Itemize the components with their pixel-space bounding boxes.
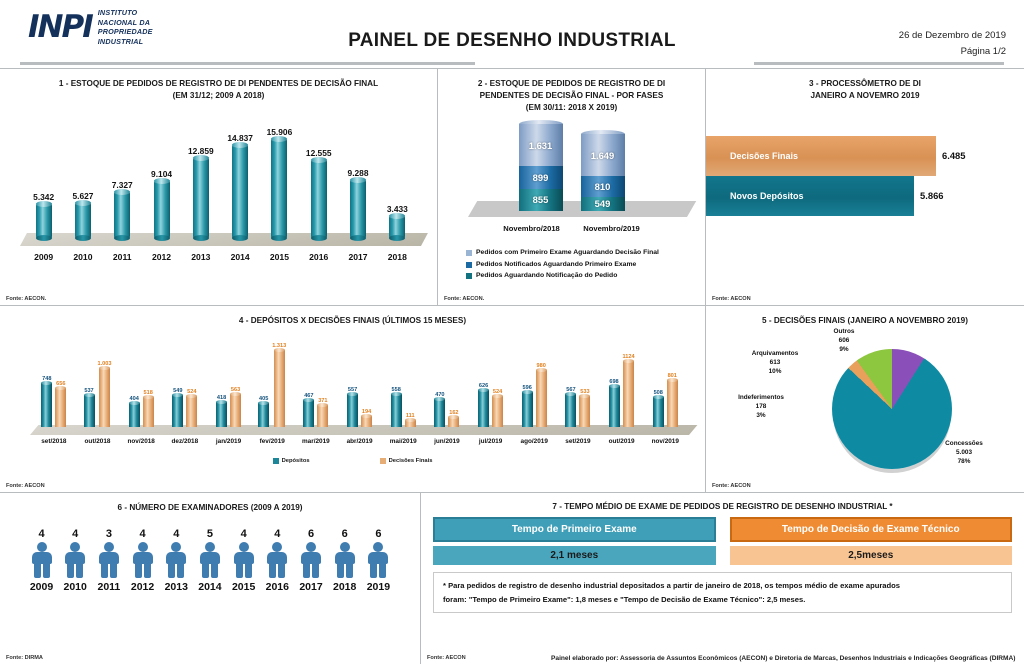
chart-2-stack: 1.631899855 xyxy=(519,124,563,210)
panel-2-title: 2 - ESTOQUE DE PEDIDOS DE REGISTRO DE DI… xyxy=(438,69,705,114)
chart-1-bar xyxy=(389,216,405,237)
chart-4-x-tick: mai/2019 xyxy=(381,438,425,445)
chart-4-x-tick: jun/2019 xyxy=(425,438,469,445)
chart-4-x-tick: nov/2019 xyxy=(643,438,687,445)
chart-4-bars: 7486565371.0034045185495244185634051.313… xyxy=(32,327,687,427)
person-icon xyxy=(131,542,155,578)
chart-1-bars: 5.3425.6277.3279.10412.85914.83715.90612… xyxy=(24,106,417,238)
panel-2-source: Fonte: AECON. xyxy=(444,296,484,302)
chart-3-row: Decisões Finais6.485 xyxy=(706,136,1024,176)
chart-4-group: 467371 xyxy=(294,393,338,427)
panel-3-subtitle: JANEIRO A NOVEMRO 2019 xyxy=(706,90,1024,102)
chart-4-column: 1.313 xyxy=(272,343,286,427)
chart-4-x-tick: fev/2019 xyxy=(250,438,294,445)
chart-1-x-tick: 2017 xyxy=(338,252,377,262)
chart-4-x-tick: ago/2019 xyxy=(512,438,556,445)
chart-1-column: 5.342 xyxy=(24,192,63,237)
panel-2-estoque-por-fases: 2 - ESTOQUE DE PEDIDOS DE REGISTRO DE DI… xyxy=(437,69,705,305)
chart-1-column: 12.555 xyxy=(299,148,338,238)
chart-6-count: 4 xyxy=(140,528,146,540)
chart-4-column: 524 xyxy=(492,389,503,427)
chart-4-column: 748 xyxy=(41,376,52,427)
page-header: INPI INSTITUTO NACIONAL DA PROPRIEDADE I… xyxy=(0,0,1024,68)
chart-4-column: 656 xyxy=(55,381,66,426)
chart-4-bar xyxy=(258,403,269,427)
pie-label-outros: Outros6069% xyxy=(814,327,874,355)
chart-6-item: 42012 xyxy=(127,528,158,593)
chart-1-column: 9.104 xyxy=(142,169,181,238)
panel-6-source: Fonte: DIRMA xyxy=(6,655,43,661)
chart-4-group: 626524 xyxy=(469,383,513,427)
chart-4-x-tick: dez/2018 xyxy=(163,438,207,445)
chart-6-year: 2011 xyxy=(97,581,120,593)
chart-4-column: 518 xyxy=(143,390,154,427)
chart-4-bar xyxy=(448,417,459,426)
chart-4-column: 194 xyxy=(361,409,372,427)
chart-1-column: 9.288 xyxy=(338,168,377,238)
chart-6-item: 52014 xyxy=(194,528,225,593)
chart-4-bar xyxy=(129,403,140,427)
header-meta: 26 de Dezembro de 2019 Página 1/2 xyxy=(899,28,1006,60)
chart-6-year: 2016 xyxy=(266,581,289,593)
legend-swatch xyxy=(466,250,472,256)
person-icon xyxy=(265,542,289,578)
chart-1-bar xyxy=(350,180,366,238)
chart-4-group: 549524 xyxy=(163,388,207,427)
legend-label: Pedidos com Primeiro Exame Aguardando De… xyxy=(476,247,659,259)
pie-label-name: Concessões xyxy=(924,439,1004,448)
chart-4-bar xyxy=(55,388,66,426)
chart-3-plot: Decisões Finais6.485Novos Depósitos5.866 xyxy=(706,136,1024,236)
chart-2-legend-item: Pedidos com Primeiro Exame Aguardando De… xyxy=(466,247,705,259)
chart-4-column: 549 xyxy=(172,388,183,427)
person-icon xyxy=(164,542,188,578)
chart-3-bar: Novos Depósitos xyxy=(706,176,914,216)
tempo-decisao-tecnico-value: 2,5meses xyxy=(730,546,1013,565)
chart-1-bar xyxy=(36,204,52,237)
chart-6-count: 4 xyxy=(38,528,44,540)
chart-3-row: Novos Depósitos5.866 xyxy=(706,176,1024,216)
dashboard-page: INPI INSTITUTO NACIONAL DA PROPRIEDADE I… xyxy=(0,0,1024,666)
pie-label-name: Outros xyxy=(814,327,874,336)
chart-4-column: 558 xyxy=(391,387,402,427)
chart-4-column: 533 xyxy=(579,389,590,427)
chart-4-column: 698 xyxy=(609,379,620,427)
person-icon xyxy=(366,542,390,578)
chart-4-column: 1124 xyxy=(623,354,635,427)
panel-7-footnote-line1: * Para pedidos de registro de desenho in… xyxy=(443,579,1002,593)
chart-4-x-tick: jan/2019 xyxy=(207,438,251,445)
chart-4-group: 558111 xyxy=(381,387,425,427)
panel-7-title: 7 - TEMPO MÉDIO DE EXAME DE PEDIDOS DE R… xyxy=(433,497,1012,513)
panel-7-tempo-medio: 7 - TEMPO MÉDIO DE EXAME DE PEDIDOS DE R… xyxy=(420,493,1024,664)
chart-4-x-tick: out/2018 xyxy=(76,438,120,445)
chart-4-column: 524 xyxy=(186,389,197,427)
logo-line-1: INSTITUTO xyxy=(98,8,153,18)
chart-4-bar xyxy=(216,402,227,426)
chart-6-year: 2017 xyxy=(299,581,322,593)
chart-1-x-tick: 2013 xyxy=(181,252,220,262)
chart-4-bar xyxy=(405,420,416,427)
panel-3-source: Fonte: AECON xyxy=(712,296,751,302)
chart-6-count: 6 xyxy=(308,528,314,540)
chart-4-column: 371 xyxy=(317,398,328,427)
chart-6-item: 32011 xyxy=(93,528,124,593)
pie-label-value: 613 xyxy=(734,358,816,367)
panel-7-columns: Tempo de Primeiro Exame 2,1 meses Tempo … xyxy=(433,517,1012,565)
panel-1-source: Fonte: AECON. xyxy=(6,296,46,302)
chart-1-x-tick: 2009 xyxy=(24,252,63,262)
chart-4-column: 508 xyxy=(653,390,664,427)
tempo-primeiro-exame-value: 2,1 meses xyxy=(433,546,716,565)
pie-label-name: Arquivamentos xyxy=(734,349,816,358)
chart-2-segment: 549 xyxy=(581,197,625,211)
chart-1-column: 5.627 xyxy=(63,191,102,238)
chart-4-x-axis: set/2018out/2018nov/2018dez/2018jan/2019… xyxy=(32,438,687,445)
chart-1-x-tick: 2016 xyxy=(299,252,338,262)
panel-5-decisoes-finais-pie: 5 - DECISÕES FINAIS (JANEIRO A NOVEMBRO … xyxy=(705,306,1024,492)
person-icon xyxy=(333,542,357,578)
chart-4-bar xyxy=(579,396,590,427)
chart-1-bar xyxy=(271,139,287,238)
chart-4-x-tick: nov/2018 xyxy=(119,438,163,445)
chart-3-bar: Decisões Finais xyxy=(706,136,936,176)
chart-4-bar xyxy=(565,394,576,427)
chart-5-plot: Outros6069% Arquivamentos61310% Indeferi… xyxy=(706,327,1024,477)
chart-4-x-tick: jul/2019 xyxy=(469,438,513,445)
panel-3-title: 3 - PROCESSÔMETRO DE DI JANEIRO A NOVEMR… xyxy=(706,69,1024,102)
chart-1-bar xyxy=(193,158,209,238)
chart-4-bar xyxy=(492,396,503,427)
panel-2-title-line2: PENDENTES DE DECISÃO FINAL - POR FASES xyxy=(438,90,705,102)
chart-2-segment: 899 xyxy=(519,166,563,189)
report-date: 26 de Dezembro de 2019 xyxy=(899,28,1006,44)
person-icon xyxy=(232,542,256,578)
panel-6-title: 6 - NÚMERO DE EXAMINADORES (2009 A 2019) xyxy=(0,493,420,514)
logo-line-2: NACIONAL DA xyxy=(98,18,153,28)
chart-4-bar xyxy=(143,397,154,427)
chart-4-bar xyxy=(391,394,402,427)
chart-6-year: 2019 xyxy=(367,581,390,593)
pie-label-percent: 10% xyxy=(734,367,816,376)
panel-1-title-line1: 1 - ESTOQUE DE PEDIDOS DE REGISTRO DE DI… xyxy=(0,78,437,90)
pie-label-indeferimentos: Indeferimentos1783% xyxy=(718,393,804,421)
chart-4-bar xyxy=(41,383,52,427)
pie-label-percent: 9% xyxy=(814,345,874,354)
chart-6-item: 42015 xyxy=(228,528,259,593)
chart-4-group: 596980 xyxy=(512,363,556,427)
panel-7-footnote: * Para pedidos de registro de desenho in… xyxy=(433,572,1012,613)
chart-4-bar xyxy=(230,394,241,427)
person-icon xyxy=(30,542,54,578)
legend-label: Depósitos xyxy=(282,458,310,464)
pie-label-value: 606 xyxy=(814,336,874,345)
chart-2-plot: 1.6318998551.649810549 Novembro/2018Nove… xyxy=(438,120,705,245)
chart-4-bar xyxy=(186,396,197,427)
dashboard-credit: Painel elaborado por: Assessoria de Assu… xyxy=(551,655,1016,662)
chart-4-column: 470 xyxy=(434,392,445,427)
chart-4-bar xyxy=(347,394,358,427)
chart-6-item: 62017 xyxy=(296,528,327,593)
chart-1-x-tick: 2018 xyxy=(378,252,417,262)
chart-4-plot: 7486565371.0034045185495244185634051.313… xyxy=(10,329,695,457)
chart-6-count: 5 xyxy=(207,528,213,540)
chart-4-bar xyxy=(172,395,183,427)
chart-1-bar xyxy=(311,160,327,238)
page-title: PAINEL DE DESENHO INDUSTRIAL xyxy=(0,30,1024,52)
chart-1-bar xyxy=(154,181,170,238)
chart-4-x-tick: out/2019 xyxy=(600,438,644,445)
panel-1-title: 1 - ESTOQUE DE PEDIDOS DE REGISTRO DE DI… xyxy=(0,69,437,102)
chart-4-column: 980 xyxy=(536,363,547,427)
chart-1-column: 12.859 xyxy=(181,146,220,238)
chart-2-stacks: 1.6318998551.649810549 xyxy=(438,124,705,210)
chart-4-column: 1.003 xyxy=(98,361,112,427)
chart-6-year: 2018 xyxy=(333,581,356,593)
chart-2-x-tick: Novembro/2018 xyxy=(501,224,563,233)
chart-4-column: 111 xyxy=(405,413,416,427)
chart-2-segment: 855 xyxy=(519,189,563,211)
chart-1-x-tick: 2011 xyxy=(103,252,142,262)
chart-6-year: 2009 xyxy=(30,581,53,593)
legend-swatch xyxy=(466,262,472,268)
chart-6-year: 2015 xyxy=(232,581,255,593)
chart-4-column: 162 xyxy=(448,410,459,426)
chart-1-x-tick: 2010 xyxy=(63,252,102,262)
chart-6-count: 3 xyxy=(106,528,112,540)
chart-4-column: 467 xyxy=(303,393,314,427)
chart-6-count: 4 xyxy=(72,528,78,540)
chart-6-count: 4 xyxy=(241,528,247,540)
chart-6-year: 2013 xyxy=(165,581,188,593)
header-rule-left xyxy=(20,62,475,65)
chart-6-item: 42010 xyxy=(60,528,91,593)
pie-label-percent: 3% xyxy=(718,411,804,420)
legend-label: Decisões Finais xyxy=(389,458,433,464)
chart-4-group: 470162 xyxy=(425,392,469,427)
pie-label-percent: 78% xyxy=(924,457,1004,466)
chart-4-group: 5371.003 xyxy=(76,361,120,427)
chart-6-count: 6 xyxy=(342,528,348,540)
chart-6-year: 2012 xyxy=(131,581,154,593)
chart-4-bar xyxy=(536,370,547,427)
chart-6-count: 6 xyxy=(375,528,381,540)
chart-1-bar xyxy=(114,192,130,238)
chart-2-stack: 1.649810549 xyxy=(581,134,625,211)
pie-label-value: 5.003 xyxy=(924,448,1004,457)
chart-1-plot: 5.3425.6277.3279.10412.85914.83715.90612… xyxy=(14,108,423,268)
chart-6-count: 4 xyxy=(274,528,280,540)
chart-4-x-tick: set/2018 xyxy=(32,438,76,445)
chart-4-column: 537 xyxy=(84,388,95,426)
chart-1-bar xyxy=(232,145,248,238)
chart-4-column: 563 xyxy=(230,387,241,427)
chart-4-column: 596 xyxy=(522,385,533,427)
chart-4-column: 405 xyxy=(258,396,269,427)
person-icon xyxy=(63,542,87,578)
chart-4-bar xyxy=(274,350,285,427)
person-icon xyxy=(299,542,323,578)
chart-4-group: 508801 xyxy=(643,373,687,427)
dashboard-row-1: 1 - ESTOQUE DE PEDIDOS DE REGISTRO DE DI… xyxy=(0,68,1024,305)
dashboard-row-2: 4 - DEPÓSITOS X DECISÕES FINAIS (ÚLTIMOS… xyxy=(0,305,1024,492)
chart-4-x-tick: mar/2019 xyxy=(294,438,338,445)
chart-6-year: 2010 xyxy=(64,581,87,593)
chart-3-value-label: 6.485 xyxy=(942,150,965,161)
chart-4-bar xyxy=(653,397,664,427)
chart-4-legend-item: Decisões Finais xyxy=(380,458,433,464)
chart-1-column: 3.433 xyxy=(378,204,417,237)
chart-1-bar xyxy=(75,203,91,238)
chart-2-x-axis: Novembro/2018Novembro/2019 xyxy=(438,224,705,233)
panel-3-title-line1: 3 - PROCESSÔMETRO DE DI xyxy=(706,78,1024,90)
chart-6-count: 4 xyxy=(173,528,179,540)
chart-4-group: 418563 xyxy=(207,387,251,427)
panel-7-body: 7 - TEMPO MÉDIO DE EXAME DE PEDIDOS DE R… xyxy=(421,493,1024,613)
chart-4-bar xyxy=(99,368,110,427)
panel-1-estoque-pendentes: 1 - ESTOQUE DE PEDIDOS DE REGISTRO DE DI… xyxy=(0,69,437,305)
panel-5-title: 5 - DECISÕES FINAIS (JANEIRO A NOVEMBRO … xyxy=(706,306,1024,327)
chart-4-bar xyxy=(317,405,328,427)
chart-2-x-tick: Novembro/2019 xyxy=(581,224,643,233)
chart-4-x-tick: abr/2019 xyxy=(338,438,382,445)
tempo-primeiro-exame-header: Tempo de Primeiro Exame xyxy=(433,517,716,542)
chart-6-pictogram-row: 4200942010320114201242013520144201542016… xyxy=(26,528,394,593)
legend-swatch xyxy=(466,273,472,279)
tempo-decisao-tecnico-header: Tempo de Decisão de Exame Técnico xyxy=(730,517,1013,542)
chart-4-legend-item: Depósitos xyxy=(273,458,310,464)
page-number: Página 1/2 xyxy=(899,44,1006,60)
chart-2-segment: 1.649 xyxy=(581,134,625,176)
chart-4-group: 567533 xyxy=(556,387,600,427)
chart-4-bar xyxy=(667,380,678,427)
legend-label: Pedidos Notificados Aguardando Primeiro … xyxy=(476,259,636,271)
chart-4-bar xyxy=(434,399,445,427)
legend-swatch xyxy=(380,458,386,464)
panel-7-source: Fonte: AECON xyxy=(427,655,466,661)
panel-4-title: 4 - DEPÓSITOS X DECISÕES FINAIS (ÚLTIMOS… xyxy=(0,306,705,327)
panel-2-subtitle: (EM 30/11: 2018 X 2019) xyxy=(438,102,705,114)
panel-7-col-primeiro-exame: Tempo de Primeiro Exame 2,1 meses xyxy=(433,517,716,565)
header-rule-right xyxy=(754,62,1004,65)
pie-label-arquivamentos: Arquivamentos61310% xyxy=(734,349,816,377)
chart-4-column: 404 xyxy=(129,396,140,427)
panel-4-depositos-x-decisoes: 4 - DEPÓSITOS X DECISÕES FINAIS (ÚLTIMOS… xyxy=(0,306,705,492)
chart-4-group: 404518 xyxy=(119,390,163,427)
panel-5-source: Fonte: AECON xyxy=(712,483,751,489)
chart-4-group: 748656 xyxy=(32,376,76,427)
panel-7-col-decisao-tecnico: Tempo de Decisão de Exame Técnico 2,5mes… xyxy=(730,517,1013,565)
person-icon xyxy=(97,542,121,578)
chart-4-column: 567 xyxy=(565,387,576,427)
panel-2-title-line1: 2 - ESTOQUE DE PEDIDOS DE REGISTRO DE DI xyxy=(438,78,705,90)
chart-6-item: 42009 xyxy=(26,528,57,593)
chart-4-group: 4051.313 xyxy=(250,343,294,427)
chart-2-legend-item: Pedidos Notificados Aguardando Primeiro … xyxy=(466,259,705,271)
chart-4-bar xyxy=(361,416,372,427)
chart-6-year: 2014 xyxy=(198,581,221,593)
legend-swatch xyxy=(273,458,279,464)
chart-4-bar xyxy=(522,392,533,427)
chart-4-column: 801 xyxy=(667,373,678,427)
chart-4-bar xyxy=(609,386,620,427)
chart-4-column: 418 xyxy=(216,395,227,426)
dashboard-row-3: 6 - NÚMERO DE EXAMINADORES (2009 A 2019)… xyxy=(0,492,1024,664)
chart-2-legend-item: Pedidos Aguardando Notificação do Pedido xyxy=(466,270,705,282)
chart-4-bar xyxy=(84,395,95,426)
legend-label: Pedidos Aguardando Notificação do Pedido xyxy=(476,270,617,282)
chart-4-bar xyxy=(478,390,489,427)
chart-4-x-tick: set/2019 xyxy=(556,438,600,445)
chart-2-segment: 810 xyxy=(581,176,625,197)
chart-1-x-tick: 2014 xyxy=(220,252,259,262)
chart-2-legend: Pedidos com Primeiro Exame Aguardando De… xyxy=(466,247,705,283)
panel-3-processometro: 3 - PROCESSÔMETRO DE DI JANEIRO A NOVEMR… xyxy=(705,69,1024,305)
chart-6-item: 62018 xyxy=(329,528,360,593)
panel-7-footnote-line2: foram: "Tempo de Primeiro Exame": 1,8 me… xyxy=(443,593,1002,607)
chart-1-x-tick: 2015 xyxy=(260,252,299,262)
chart-4-group: 6981124 xyxy=(600,354,644,427)
pie-label-name: Indeferimentos xyxy=(718,393,804,402)
panel-1-subtitle: (EM 31/12; 2009 A 2018) xyxy=(0,90,437,102)
person-icon xyxy=(198,542,222,578)
pie-label-value: 178 xyxy=(718,402,804,411)
chart-4-column: 557 xyxy=(347,387,358,427)
chart-1-column: 14.837 xyxy=(220,133,259,238)
chart-3-value-label: 5.866 xyxy=(920,190,943,201)
chart-1-x-tick: 2012 xyxy=(142,252,181,262)
chart-6-item: 42016 xyxy=(262,528,293,593)
chart-1-column: 7.327 xyxy=(103,180,142,238)
chart-4-bar xyxy=(303,400,314,427)
chart-6-item: 42013 xyxy=(161,528,192,593)
chart-4-legend: DepósitosDecisões Finais xyxy=(0,458,705,464)
chart-6-plot: 4200942010320114201242013520144201542016… xyxy=(0,528,420,593)
chart-4-column: 626 xyxy=(478,383,489,427)
chart-1-x-axis: 2009201020112012201320142015201620172018 xyxy=(24,252,417,262)
panel-4-source: Fonte: AECON xyxy=(6,483,45,489)
panel-6-examinadores: 6 - NÚMERO DE EXAMINADORES (2009 A 2019)… xyxy=(0,493,420,664)
chart-2-segment: 1.631 xyxy=(519,124,563,166)
chart-1-column: 15.906 xyxy=(260,127,299,238)
chart-4-group: 557194 xyxy=(338,387,382,427)
chart-6-item: 62019 xyxy=(363,528,394,593)
chart-4-bar xyxy=(623,361,634,427)
pie-label-concessoes: Concessões5.00378% xyxy=(924,439,1004,467)
